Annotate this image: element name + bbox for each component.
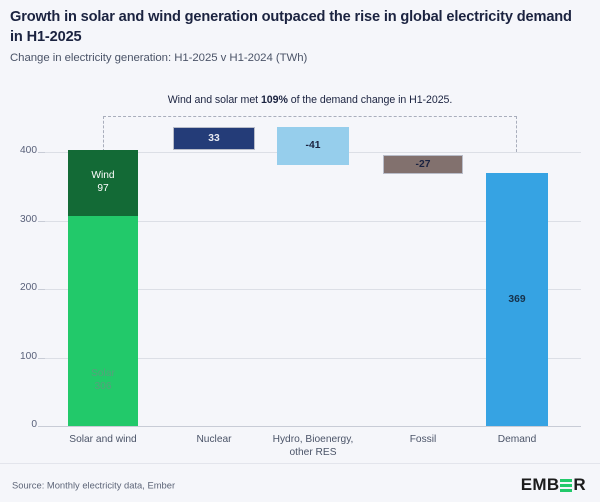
ember-logo: EMB R (521, 475, 586, 495)
bar-fossil[interactable]: -27 (383, 155, 463, 174)
ytick-dash-400 (38, 152, 45, 153)
ytick-dash-300 (38, 221, 45, 222)
bar-wind-name: Wind (91, 170, 114, 181)
annotation-prefix: Wind and solar met (168, 94, 261, 106)
ember-logo-green-e-icon (560, 479, 572, 492)
bar-solar-value: 306 (94, 381, 111, 392)
source-text: Source: Monthly electricity data, Ember (12, 480, 175, 491)
annotation-text: Wind and solar met 109% of the demand ch… (103, 94, 517, 106)
bar-hydro-bioenergy-other-res[interactable]: -41 (277, 127, 349, 164)
ytick-dash-0 (38, 426, 45, 427)
bar-nuclear-value: 33 (208, 133, 219, 144)
annotation-suffix: of the demand change in H1-2025. (288, 94, 452, 106)
footer-divider (0, 463, 600, 464)
page-subtitle: Change in electricity generation: H1-202… (10, 52, 580, 64)
xlabel-hydro-line2: other RES (290, 447, 337, 458)
bar-solar-name: Solar (91, 368, 115, 379)
ytick-label-0: 0 (3, 419, 37, 430)
bar-demand[interactable]: 369 (486, 173, 548, 426)
ytick-label-100: 100 (3, 351, 37, 362)
xlabel-hydro-line1: Hydro, Bioenergy, (273, 434, 354, 445)
page-title: Growth in solar and wind generation outp… (10, 8, 580, 48)
chart-page: Growth in solar and wind generation outp… (0, 0, 600, 502)
bar-hydro-value: -41 (306, 140, 321, 151)
bar-wind[interactable]: Wind 97 (68, 150, 138, 216)
bar-solar[interactable]: Solar 306 (68, 216, 138, 426)
plot-area: 400 300 200 100 0 Wind 97 Solar 306 (45, 118, 590, 426)
xlabel-fossil: Fossil (373, 434, 473, 447)
ember-logo-text-1: EMB (521, 475, 560, 495)
bar-wind-value: 97 (97, 183, 108, 194)
bar-nuclear[interactable]: 33 (173, 127, 255, 150)
ytick-label-400: 400 (3, 145, 37, 156)
bar-wind-label: Wind 97 (91, 170, 114, 196)
gridline-zero (45, 426, 581, 427)
xlabel-solar-and-wind: Solar and wind (53, 434, 153, 447)
ytick-dash-200 (38, 289, 45, 290)
xlabel-hydro-bioenergy-other-res: Hydro, Bioenergy, other RES (263, 434, 363, 460)
bar-fossil-value: -27 (416, 159, 431, 170)
ytick-dash-100 (38, 358, 45, 359)
bar-solar-label: Solar 306 (91, 368, 115, 394)
ytick-label-300: 300 (3, 214, 37, 225)
bar-demand-value: 369 (508, 294, 525, 305)
annotation-highlight: 109% (261, 94, 288, 106)
ember-logo-text-2: R (573, 475, 586, 495)
xlabel-demand: Demand (467, 434, 567, 447)
ytick-label-200: 200 (3, 282, 37, 293)
xlabel-nuclear: Nuclear (164, 434, 264, 447)
